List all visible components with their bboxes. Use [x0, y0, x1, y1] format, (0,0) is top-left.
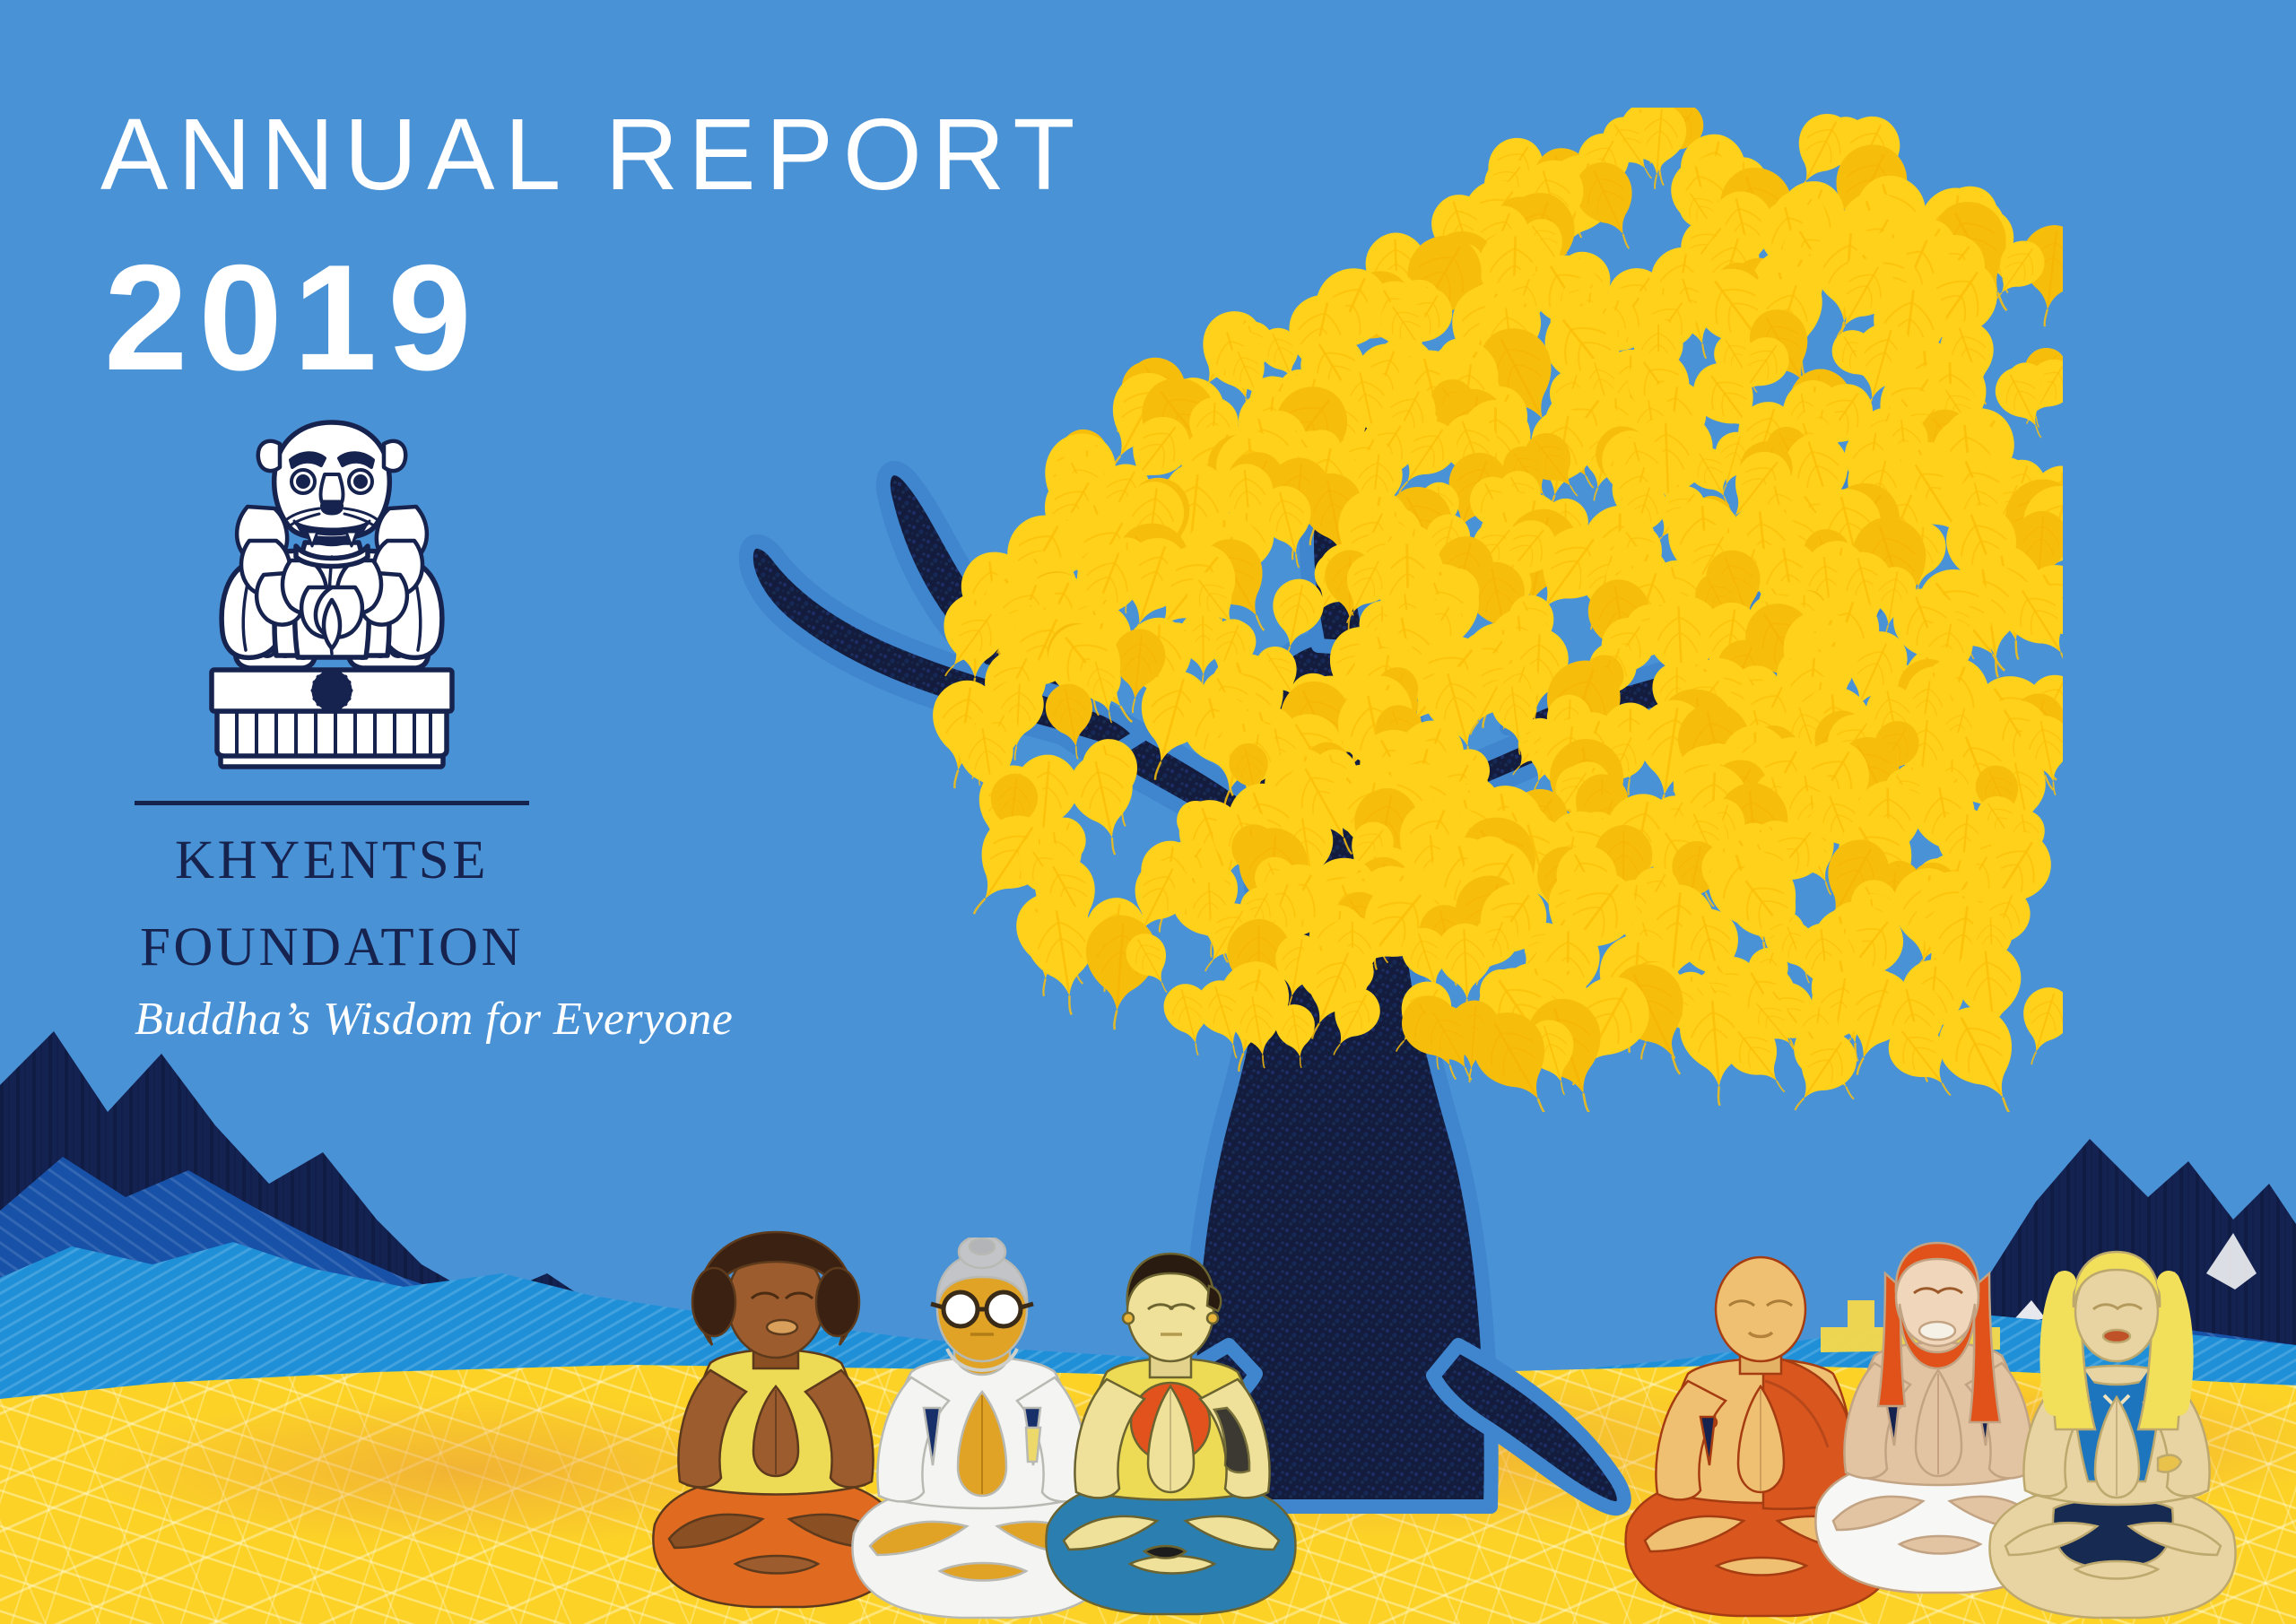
- meditator-blonde-yoga-top: [1982, 1246, 2251, 1623]
- annual-report-cover: ANNUAL REPORT 2019: [0, 0, 2296, 1624]
- logo-name-line-1: KHYENTSE: [135, 829, 529, 892]
- page-title: ANNUAL REPORT: [100, 104, 1084, 205]
- report-year: 2019: [104, 242, 483, 393]
- bodhi-tree-canopy-leaves: [610, 108, 2063, 1112]
- snow-lion-icon: [197, 408, 466, 785]
- logo-tagline: Buddha’s Wisdom for Everyone: [135, 993, 529, 1046]
- logo-name-line-2: FOUNDATION: [135, 916, 529, 979]
- meditator-sun-shirt-tattoos: [1031, 1246, 1309, 1623]
- logo-divider-rule: [135, 801, 529, 805]
- khyentse-foundation-logo: KHYENTSE FOUNDATION Buddha’s Wisdom for …: [135, 408, 529, 1046]
